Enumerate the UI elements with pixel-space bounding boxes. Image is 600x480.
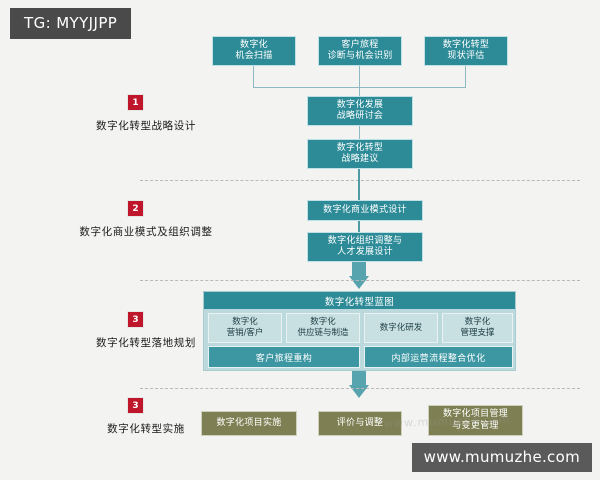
section-label-1: 数字化转型战略设计 <box>76 118 216 133</box>
section-badge-3: 3 <box>128 312 143 327</box>
connector-proposal-to-model <box>358 169 360 200</box>
box-business-model-design-line-1: 数字化商业模式设计 <box>323 205 407 217</box>
tg-tag-badge: TG: MYYJJPP <box>10 8 131 39</box>
blueprint-block: 数字化转型蓝图 数字化 营销/客户 数字化 供应链与制造 数字化研发 数字化 管… <box>203 291 516 371</box>
connector-v-current <box>465 66 466 87</box>
box-opportunity-scan-line-2: 机会扫描 <box>235 51 272 63</box>
arrow-stem-to-implementation <box>352 371 366 385</box>
pillar-rnd-line-1: 数字化研发 <box>380 323 423 334</box>
pillar-management-support-line-1: 数字化 <box>465 317 491 328</box>
section-label-4: 数字化转型实施 <box>76 421 216 436</box>
box-opportunity-scan-line-1: 数字化 <box>240 40 268 52</box>
section-badge-1: 1 <box>128 95 143 110</box>
box-current-state: 数字化转型 现状评估 <box>424 36 508 66</box>
section-badge-2: 2 <box>128 201 143 216</box>
pillar-supply-chain: 数字化 供应链与制造 <box>286 313 360 343</box>
box-customer-journey: 客户旅程 诊断与机会识别 <box>318 36 402 66</box>
pillar-marketing-customer: 数字化 营销/客户 <box>208 313 282 343</box>
section-label-3: 数字化转型落地规划 <box>76 335 216 350</box>
pillar-supply-chain-line-1: 数字化 <box>310 317 336 328</box>
connector-v-opportunity <box>253 66 254 87</box>
arrow-down-to-implementation <box>349 385 369 398</box>
box-customer-journey-line-2: 诊断与机会识别 <box>327 51 392 63</box>
box-project-implementation-line-1: 数字化项目实施 <box>216 418 281 430</box>
box-strategy-proposal-line-2: 战略建议 <box>341 154 378 166</box>
box-strategy-workshop-line-2: 战略研讨会 <box>337 111 384 123</box>
pillar-marketing-customer-line-1: 数字化 <box>232 317 258 328</box>
band-customer-journey-rebuild: 客户旅程重构 <box>208 346 360 368</box>
band-internal-process-optimize: 内部运营流程整合优化 <box>364 346 513 368</box>
box-strategy-proposal: 数字化转型 战略建议 <box>307 139 413 169</box>
box-org-talent-design: 数字化组织调整与 人才发展设计 <box>307 232 423 262</box>
divider-section-1-2 <box>140 180 580 181</box>
section-badge-4: 3 <box>128 398 143 413</box>
box-customer-journey-line-1: 客户旅程 <box>341 40 378 52</box>
connector-model-to-org <box>358 221 360 232</box>
arrow-stem-to-blueprint <box>352 262 366 276</box>
diagram-canvas: TG: MYYJJPP 数字化 机会扫描 客户旅程 诊断与机会识别 数字化转型 … <box>0 0 600 480</box>
site-watermark: www.mumuzhe.com <box>412 443 592 472</box>
divider-section-2-3 <box>140 280 580 281</box>
arrow-down-to-blueprint <box>349 276 369 289</box>
connector-v-customer <box>359 66 360 87</box>
section-label-2: 数字化商业模式及组织调整 <box>66 224 226 239</box>
pillar-rnd: 数字化研发 <box>364 313 438 343</box>
box-strategy-proposal-line-1: 数字化转型 <box>337 143 384 155</box>
box-business-model-design: 数字化商业模式设计 <box>307 200 423 221</box>
pillar-management-support-line-2: 管理支撑 <box>460 328 494 339</box>
box-opportunity-scan: 数字化 机会扫描 <box>212 36 296 66</box>
connector-workshop-to-proposal <box>359 126 360 139</box>
blueprint-header: 数字化转型蓝图 <box>204 292 515 309</box>
box-evaluation-adjustment-line-1: 评价与调整 <box>337 418 384 430</box>
box-strategy-workshop-line-1: 数字化发展 <box>337 100 384 112</box>
box-org-talent-design-line-1: 数字化组织调整与 <box>328 236 402 248</box>
connector-v-bus-to-workshop <box>359 87 360 96</box>
pillar-supply-chain-line-2: 供应链与制造 <box>297 328 348 339</box>
pillar-marketing-customer-line-2: 营销/客户 <box>227 328 264 339</box>
box-current-state-line-1: 数字化转型 <box>443 40 490 52</box>
box-current-state-line-2: 现状评估 <box>447 51 484 63</box>
pillar-management-support: 数字化 管理支撑 <box>442 313 513 343</box>
box-org-talent-design-line-2: 人才发展设计 <box>337 247 393 259</box>
divider-section-3-4 <box>140 388 580 389</box>
box-strategy-workshop: 数字化发展 战略研讨会 <box>307 96 413 126</box>
